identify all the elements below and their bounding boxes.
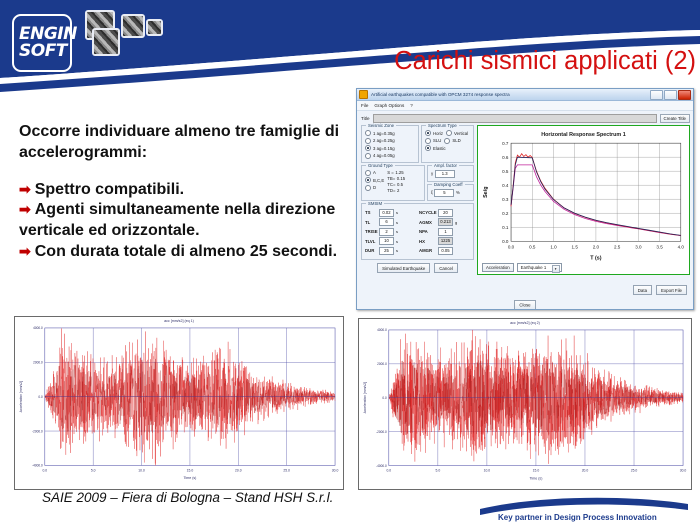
svg-text:0.3: 0.3 xyxy=(502,197,509,202)
ground-type-group: Ground Type A B,C,E D S =1.25 TB=0.15 TC… xyxy=(361,165,425,201)
chart-controls: Acceleration Earthquake 1 ▾ xyxy=(480,262,687,272)
window-buttons[interactable] xyxy=(650,90,691,100)
chart-title: Horizontal Response Spectrum 1 xyxy=(480,132,687,138)
bullet-label: Con durata totale di almeno 25 secondi. xyxy=(35,243,337,260)
accelerogram-right-chart: 0.05.010.015.020.025.030.04000.02000.00.… xyxy=(359,325,691,481)
param-value: 1.25 xyxy=(395,170,403,175)
option-label: 4 ag=0.05g xyxy=(373,153,395,158)
maximize-button[interactable] xyxy=(664,90,677,100)
seismic-zone-caption: Seismic Zone xyxy=(366,123,396,128)
ground-option-a[interactable]: A xyxy=(365,170,384,176)
svg-text:30.0: 30.0 xyxy=(332,468,339,472)
seismic-zone-option[interactable]: 2 ag=0.25g xyxy=(365,138,415,144)
intro-paragraph: Occorre individuare almeno tre famiglie … xyxy=(19,122,349,164)
window-title: Artificial earthquakes compatible with O… xyxy=(371,92,510,97)
field-input: 1225 xyxy=(438,237,453,245)
ground-param-tc: TC=0.5 xyxy=(387,182,405,187)
field-input[interactable]: 2 xyxy=(379,228,394,236)
svg-text:3.5: 3.5 xyxy=(656,245,663,250)
field-unit: g xyxy=(455,220,459,225)
svg-text:0.6: 0.6 xyxy=(502,155,509,160)
seismic-zone-group: Seismic Zone 1 ag=0.35g 2 ag=0.25g 3 ag=… xyxy=(361,125,419,163)
svg-text:20.0: 20.0 xyxy=(582,468,589,472)
cancel-button[interactable]: Cancel xyxy=(434,263,458,273)
spectrum-option-slu[interactable]: SLU xyxy=(425,138,441,144)
option-label: A xyxy=(373,170,376,175)
field-label: AMGR xyxy=(419,248,436,253)
title-field-label: Title xyxy=(361,116,370,121)
ampl-factor-symbol: γ xyxy=(431,171,433,176)
svg-text:Time (s): Time (s) xyxy=(529,476,542,480)
field-label: DUR xyxy=(365,248,377,253)
field-input[interactable]: 1 xyxy=(438,228,453,236)
spectrum-type-group: Spectrum Type Horiz Vertical SLU SLD Ela… xyxy=(421,125,474,163)
logo-line-2: SOFT xyxy=(14,43,70,60)
param-name: TC= xyxy=(387,182,395,187)
field-label: TRISE xyxy=(365,229,377,234)
title-input-row: Title Create Title xyxy=(357,111,693,125)
header-banner: ENGIN SOFT xyxy=(0,0,700,92)
damping-row: ξ 5 % xyxy=(431,189,470,197)
chart-plot-area: 0.00.51.01.52.02.53.03.54.00.00.10.20.30… xyxy=(480,139,687,262)
svg-text:10.0: 10.0 xyxy=(138,468,145,472)
field-unit: s xyxy=(396,210,400,215)
svg-text:15.0: 15.0 xyxy=(187,468,194,472)
option-label: Elastic xyxy=(433,146,446,151)
radio-icon[interactable] xyxy=(365,185,371,191)
smsim-field-trise: TRISE2s xyxy=(365,228,416,236)
svg-text:3.0: 3.0 xyxy=(635,245,642,250)
spectrum-option-sld[interactable]: SLD xyxy=(444,138,460,144)
arrow-bullet-icon: ➡ xyxy=(19,243,31,259)
svg-text:-4000.0: -4000.0 xyxy=(376,463,387,467)
smsim-field-tl: TL6s xyxy=(365,218,416,226)
svg-text:Se/g: Se/g xyxy=(483,186,489,197)
radio-icon[interactable] xyxy=(425,138,431,144)
svg-text:1.0: 1.0 xyxy=(550,245,557,250)
smsim-field-dur: DUR25s xyxy=(365,247,416,255)
damping-symbol: ξ xyxy=(431,190,433,195)
radio-icon-selected[interactable] xyxy=(365,145,371,151)
bullet-item: ➡Agenti simultaneamente nella direzione … xyxy=(19,200,349,242)
svg-text:5.0: 5.0 xyxy=(436,468,441,472)
photo-thumb-3 xyxy=(121,14,145,38)
svg-text:Acceleration [mm/s2]: Acceleration [mm/s2] xyxy=(19,380,23,411)
ampl-factor-row: γ 1.3 xyxy=(431,170,470,178)
smsim-field-agmx: AGMX0.213g xyxy=(419,218,470,226)
ground-param-tb: TB=0.15 xyxy=(387,176,405,181)
spectrum-option-elastic[interactable]: Elastic xyxy=(425,145,470,151)
smsim-field-npa: NPA1 xyxy=(419,228,470,236)
radio-icon[interactable] xyxy=(365,138,371,144)
option-label: D xyxy=(373,185,376,190)
option-label: B,C,E xyxy=(373,178,384,183)
accelerogram-right: acc [mm/s2] (eq 2) 0.05.010.015.020.025.… xyxy=(358,318,692,490)
field-input[interactable]: 25 xyxy=(379,247,394,255)
radio-icon[interactable] xyxy=(365,153,371,159)
svg-text:Acceleration [mm/s2]: Acceleration [mm/s2] xyxy=(363,382,367,413)
option-label: Vertical xyxy=(454,131,468,136)
close-dialog-button[interactable]: Close xyxy=(514,300,535,310)
radio-icon[interactable] xyxy=(365,130,371,136)
param-name: TB= xyxy=(387,176,395,181)
radio-icon[interactable] xyxy=(365,170,371,176)
svg-text:25.0: 25.0 xyxy=(283,468,290,472)
damping-caption: Damping Coeff xyxy=(432,182,465,187)
control-panel: Seismic Zone 1 ag=0.35g 2 ag=0.25g 3 ag=… xyxy=(361,125,474,275)
menu-graph-options[interactable]: Graph Options xyxy=(374,103,404,108)
svg-text:0.5: 0.5 xyxy=(502,169,509,174)
field-label: TS xyxy=(365,210,377,215)
seismic-zone-option[interactable]: 4 ag=0.05g xyxy=(365,153,415,159)
damping-group: Damping Coeff ξ 5 % xyxy=(427,184,474,201)
svg-text:Time (s): Time (s) xyxy=(183,476,196,480)
dialog-body: Seismic Zone 1 ag=0.35g 2 ag=0.25g 3 ag=… xyxy=(357,125,693,278)
chevron-down-icon[interactable]: ▾ xyxy=(552,265,560,273)
seismic-zone-option[interactable]: 1 ag=0.35g xyxy=(365,130,415,136)
application-window: Artificial earthquakes compatible with O… xyxy=(356,88,694,310)
bullet-label: Agenti simultaneamente nella direzione v… xyxy=(19,201,335,239)
field-label: HX xyxy=(419,239,436,244)
ground-type-caption: Ground Type xyxy=(366,163,395,168)
svg-text:0.0: 0.0 xyxy=(502,239,509,244)
field-unit: s xyxy=(396,229,400,234)
bullet-label: Spettro compatibili. xyxy=(35,181,184,198)
svg-text:T (s): T (s) xyxy=(590,256,602,262)
smsim-field-tlvl: TLVL10s xyxy=(365,237,416,245)
svg-text:0.0: 0.0 xyxy=(38,394,43,398)
param-value: 0.15 xyxy=(397,176,405,181)
option-label: Horiz xyxy=(433,131,443,136)
earthquake-select[interactable]: Earthquake 1 ▾ xyxy=(517,263,562,272)
bullet-item: ➡Spettro compatibili. xyxy=(19,180,349,201)
svg-text:0.4: 0.4 xyxy=(502,183,509,188)
radio-icon-selected[interactable] xyxy=(425,130,431,136)
ampl-factor-input[interactable]: 1.3 xyxy=(435,170,455,178)
svg-text:4.0: 4.0 xyxy=(678,245,685,250)
window-titlebar[interactable]: Artificial earthquakes compatible with O… xyxy=(357,89,693,101)
slide-body-text: Occorre individuare almeno tre famiglie … xyxy=(19,122,349,263)
option-label: SLD xyxy=(452,138,460,143)
radio-icon-selected[interactable] xyxy=(425,145,431,151)
photo-thumb-2 xyxy=(92,28,120,56)
svg-text:0.0: 0.0 xyxy=(42,468,47,472)
field-unit: s xyxy=(396,220,400,225)
arrow-bullet-icon: ➡ xyxy=(19,181,31,197)
create-title-button[interactable]: Create Title xyxy=(660,114,690,123)
smsim-field-ncycle: NCYCLE20 xyxy=(419,209,470,217)
smsim-group: SMSIM TS0.02s TL6s TRISE2s TLVL10s DUR25… xyxy=(361,203,474,261)
option-label: 2 ag=0.25g xyxy=(373,138,395,143)
field-label: TLVL xyxy=(365,239,377,244)
tagline-text: Key partner in Design Process Innovation xyxy=(498,513,657,522)
svg-text:2000.0: 2000.0 xyxy=(377,362,387,366)
smsim-field-hx: HX1225 xyxy=(419,237,470,245)
param-name: TD= xyxy=(387,188,395,193)
ground-option-d[interactable]: D xyxy=(365,185,384,191)
field-input: 0.213 xyxy=(438,218,453,226)
ampl-factor-group: Ampl. factor γ 1.3 xyxy=(427,165,474,182)
dialog-close-row: Close xyxy=(357,302,693,307)
param-name: S = xyxy=(387,170,394,175)
field-unit: s xyxy=(396,239,400,244)
acceleration-button[interactable]: Acceleration xyxy=(482,263,514,272)
svg-text:0.2: 0.2 xyxy=(502,211,509,216)
smsim-field-ts: TS0.02s xyxy=(365,209,416,217)
field-label: AGMX xyxy=(419,220,436,225)
title-input[interactable] xyxy=(373,114,657,123)
arrow-bullet-icon: ➡ xyxy=(19,201,31,217)
svg-text:0.5: 0.5 xyxy=(529,245,536,250)
slide-footer: SAIE 2009 – Fiera di Bologna – Stand HSH… xyxy=(42,490,333,505)
close-button[interactable] xyxy=(678,90,691,100)
param-value: 2 xyxy=(397,188,399,193)
simulated-earthquake-button[interactable]: Simulated Earthquake xyxy=(377,263,430,273)
photo-thumb-4 xyxy=(146,19,163,36)
menu-help[interactable]: ? xyxy=(410,103,413,108)
action-buttons: Simulated Earthquake Cancel xyxy=(361,263,474,273)
svg-text:4000.0: 4000.0 xyxy=(377,328,387,332)
ampl-factor-caption: Ampl. factor xyxy=(432,163,459,168)
bullet-item: ➡Con durata totale di almeno 25 secondi. xyxy=(19,242,349,263)
earthquake-select-value: Earthquake 1 xyxy=(521,265,547,270)
damping-unit: % xyxy=(456,190,460,195)
svg-text:0.0: 0.0 xyxy=(382,396,387,400)
menubar[interactable]: File Graph Options ? xyxy=(357,101,693,111)
radio-icon-selected[interactable] xyxy=(365,177,371,183)
svg-text:2000.0: 2000.0 xyxy=(33,360,43,364)
svg-text:0.0: 0.0 xyxy=(386,468,391,472)
ground-param-td: TD=2 xyxy=(387,188,405,193)
param-value: 0.5 xyxy=(397,182,403,187)
svg-text:4000.0: 4000.0 xyxy=(33,326,43,330)
smsim-field-amgr: AMGR0.05 xyxy=(419,247,470,255)
menu-file[interactable]: File xyxy=(361,103,368,108)
damping-input[interactable]: 5 xyxy=(434,189,454,197)
radio-icon[interactable] xyxy=(446,130,452,136)
field-label: TL xyxy=(365,220,377,225)
svg-text:0.7: 0.7 xyxy=(502,141,509,146)
ground-param-s: S =1.25 xyxy=(387,170,405,175)
field-input[interactable]: 10 xyxy=(379,237,394,245)
svg-text:5.0: 5.0 xyxy=(91,468,96,472)
svg-text:25.0: 25.0 xyxy=(631,468,638,472)
field-label: NCYCLE xyxy=(419,210,436,215)
option-label: 3 ag=0.15g xyxy=(373,146,395,151)
accelerogram-left-chart: 0.05.010.015.020.025.030.04000.02000.00.… xyxy=(15,323,343,481)
option-label: 1 ag=0.35g xyxy=(373,131,395,136)
field-input[interactable]: 6 xyxy=(379,218,394,226)
svg-text:-4000.0: -4000.0 xyxy=(32,463,43,467)
export-file-button[interactable]: Export File xyxy=(656,285,687,295)
dialog-secondary-buttons: Data Export File xyxy=(633,285,687,295)
svg-text:1.5: 1.5 xyxy=(572,245,579,250)
data-button[interactable]: Data xyxy=(633,285,652,295)
field-input[interactable]: 0.02 xyxy=(379,209,394,217)
spectrum-type-caption: Spectrum Type xyxy=(426,123,459,128)
accelerogram-left: acc [mm/s2] (eq 1) 0.05.010.015.020.025.… xyxy=(14,316,344,490)
smsim-caption: SMSIM xyxy=(366,201,384,206)
svg-text:-2000.0: -2000.0 xyxy=(376,429,387,433)
response-spectrum-panel: Horizontal Response Spectrum 1 0.00.51.0… xyxy=(477,125,690,275)
svg-text:10.0: 10.0 xyxy=(484,468,491,472)
field-unit: s xyxy=(396,248,400,253)
svg-text:20.0: 20.0 xyxy=(235,468,242,472)
field-input[interactable]: 0.05 xyxy=(438,247,453,255)
svg-text:30.0: 30.0 xyxy=(680,468,687,472)
minimize-button[interactable] xyxy=(650,90,663,100)
svg-text:-2000.0: -2000.0 xyxy=(32,429,43,433)
svg-text:0.1: 0.1 xyxy=(502,225,509,230)
svg-text:2.0: 2.0 xyxy=(593,245,600,250)
svg-text:2.5: 2.5 xyxy=(614,245,621,250)
spectrum-option-vertical[interactable]: Vertical xyxy=(446,130,468,136)
field-input[interactable]: 20 xyxy=(438,209,453,217)
page-title: Carichi sismici applicati (2) xyxy=(366,48,696,75)
svg-text:0.0: 0.0 xyxy=(508,245,515,250)
option-label: SLU xyxy=(433,138,441,143)
spectrum-option-horiz[interactable]: Horiz xyxy=(425,130,443,136)
enginsoft-logo: ENGIN SOFT xyxy=(12,14,72,72)
response-spectrum-chart: 0.00.51.01.52.02.53.03.54.00.00.10.20.30… xyxy=(480,139,687,262)
app-icon xyxy=(359,90,368,99)
radio-icon[interactable] xyxy=(444,138,450,144)
seismic-zone-option[interactable]: 3 ag=0.15g xyxy=(365,145,415,151)
tagline-banner: Key partner in Design Process Innovation xyxy=(480,497,688,523)
field-label: NPA xyxy=(419,229,436,234)
svg-text:15.0: 15.0 xyxy=(533,468,540,472)
ground-option-bce[interactable]: B,C,E xyxy=(365,177,384,183)
